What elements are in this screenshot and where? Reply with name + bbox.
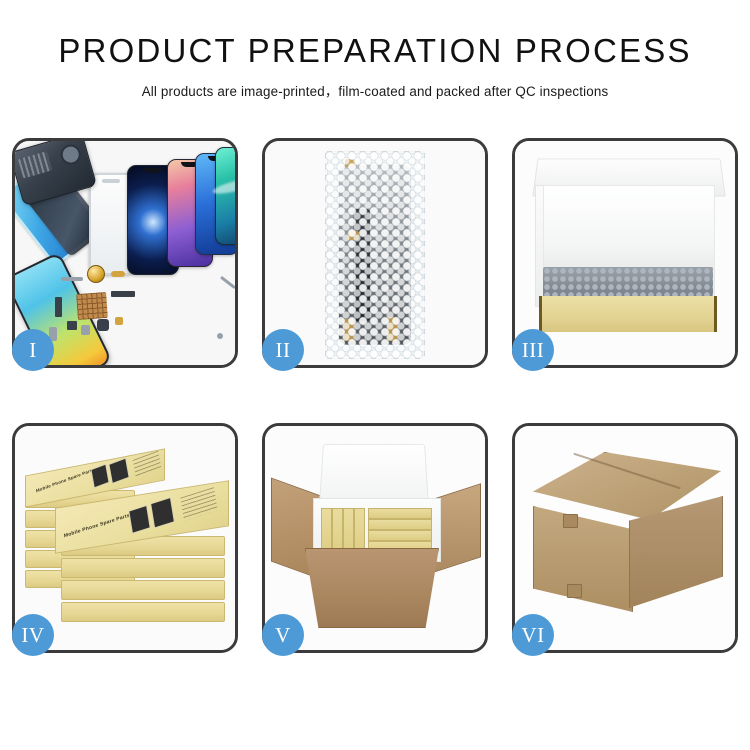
stacked-box <box>61 602 225 622</box>
carton-tape-upper <box>563 514 578 528</box>
bubble-texture <box>325 151 425 359</box>
spare-part-ribbon <box>111 291 135 297</box>
spare-part-bracket <box>67 321 77 330</box>
step-6-image <box>515 426 735 650</box>
packed-yellow-box <box>368 508 432 519</box>
wallpaper-swoosh <box>212 175 235 196</box>
carton-body <box>305 548 439 628</box>
foam-case-lid <box>319 444 429 506</box>
phone-chassis-opened <box>15 141 97 206</box>
stacked-box <box>61 580 225 600</box>
step-number-badge-5: V <box>262 614 304 656</box>
step-number-badge-4: IV <box>12 614 54 656</box>
phone-display-teal <box>215 147 235 245</box>
box-label-spec-lines <box>180 487 217 521</box>
page-title: PRODUCT PREPARATION PROCESS <box>0 34 750 69</box>
header: PRODUCT PREPARATION PROCESS All products… <box>0 0 750 100</box>
packed-yellow-box <box>368 519 432 530</box>
step-number-badge-1: I <box>12 329 54 371</box>
step-number-badge-2: II <box>262 329 304 371</box>
step-3-image <box>515 141 735 365</box>
process-step-2: II <box>262 138 488 368</box>
spare-part-screw <box>217 333 223 339</box>
spare-part-screw-set <box>115 317 123 325</box>
white-foam-sheet <box>543 185 715 271</box>
spare-part-flex <box>55 297 62 317</box>
step-2-image <box>265 141 485 365</box>
spare-part-tool <box>220 276 235 289</box>
process-step-grid: I II <box>12 138 738 683</box>
spare-part-speaker <box>97 319 109 331</box>
logic-board-part <box>76 292 108 320</box>
process-step-4: Mobile Phone Spare Parts Mobile Phone Sp… <box>12 423 238 653</box>
step-1-image <box>15 141 235 365</box>
step-4-image: Mobile Phone Spare Parts Mobile Phone Sp… <box>15 426 235 650</box>
packed-yellow-box <box>368 530 432 541</box>
spare-part-strip <box>61 277 83 281</box>
process-step-6: VI <box>512 423 738 653</box>
process-step-5: V <box>262 423 488 653</box>
bubble-wrap-bag <box>325 151 425 359</box>
spare-part-camera <box>81 325 90 335</box>
step-number-badge-3: III <box>512 329 554 371</box>
step-5-image <box>265 426 485 650</box>
bubble-wrap-layer <box>543 267 713 297</box>
yellow-box-front <box>539 296 717 332</box>
carton-tape-lower <box>567 584 582 598</box>
stacked-box <box>61 558 225 578</box>
carton-front-face <box>533 506 633 612</box>
process-step-1: I <box>12 138 238 368</box>
product-preparation-infographic: PRODUCT PREPARATION PROCESS All products… <box>0 0 750 750</box>
box-label-phone-image <box>90 464 109 489</box>
box-stack: Mobile Phone Spare Parts Mobile Phone Sp… <box>23 444 227 638</box>
spare-part-connector <box>111 271 125 277</box>
vibration-motor-part <box>87 265 105 283</box>
box-label-spec-lines <box>133 451 162 478</box>
process-step-3: III <box>512 138 738 368</box>
box-label-phone-image <box>128 505 151 534</box>
notch <box>144 168 162 173</box>
box-label-phone-image <box>150 497 175 529</box>
page-subtitle: All products are image-printed，film-coat… <box>0 80 750 100</box>
box-label-text: Mobile Phone Spare Parts <box>36 467 95 493</box>
step-number-badge-6: VI <box>512 614 554 656</box>
box-label-text: Mobile Phone Spare Parts <box>64 513 131 540</box>
box-label-phone-image <box>108 458 129 485</box>
